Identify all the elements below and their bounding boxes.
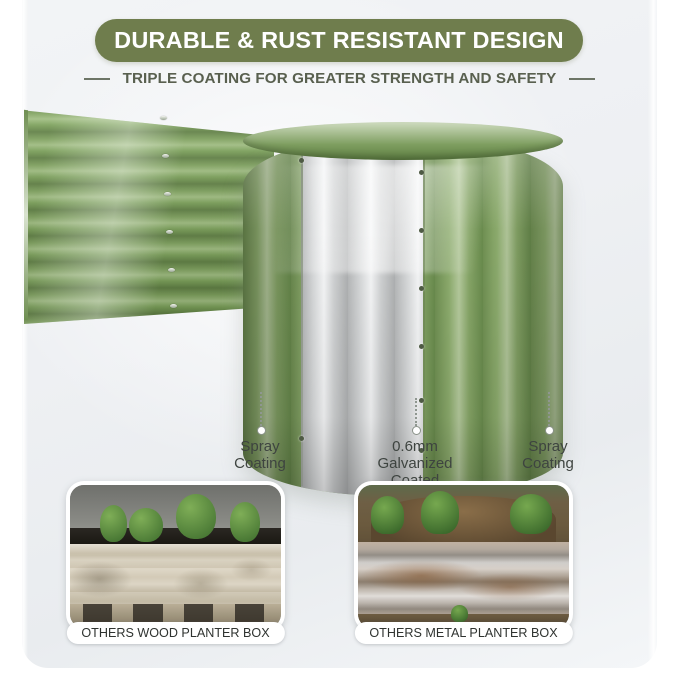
hero-product-render: Spray Coating 0.6mm Galvanized Coated St… [0,96,679,426]
corrugated-wall-cut-edge [24,110,28,320]
comparison-caption-metal: OTHERS METAL PLANTER BOX [354,622,572,644]
callout-leader-line [260,392,262,426]
caption-wrap-metal: OTHERS METAL PLANTER BOX [354,481,573,632]
product-infographic: DURABLE & RUST RESISTANT DESIGN TRIPLE C… [0,0,679,679]
callout-leader-line [548,392,550,426]
callout-node [257,426,266,435]
subheadline-text: TRIPLE COATING FOR GREATER STRENGTH AND … [123,70,557,87]
headline-text: DURABLE & RUST RESISTANT DESIGN [114,27,564,54]
corrugated-wall-panel [24,106,274,324]
barrel-seam-right [423,140,425,486]
callout-label: Spray Coating [230,438,290,472]
comparison-caption-wood: OTHERS WOOD PLANTER BOX [66,622,284,644]
callout-leader-line [415,398,417,426]
caption-wrap-wood: OTHERS WOOD PLANTER BOX [66,481,285,632]
callout-node [545,426,554,435]
headline-pill: DURABLE & RUST RESISTANT DESIGN [95,19,583,62]
callout-node [412,426,421,435]
barrel-top-rim [243,122,563,160]
subheadline-dash-right [569,78,595,80]
barrel-seam-left [301,140,303,486]
callout-label: Spray Coating [518,438,578,472]
subheadline: TRIPLE COATING FOR GREATER STRENGTH AND … [0,70,679,87]
subheadline-dash-left [84,78,110,80]
